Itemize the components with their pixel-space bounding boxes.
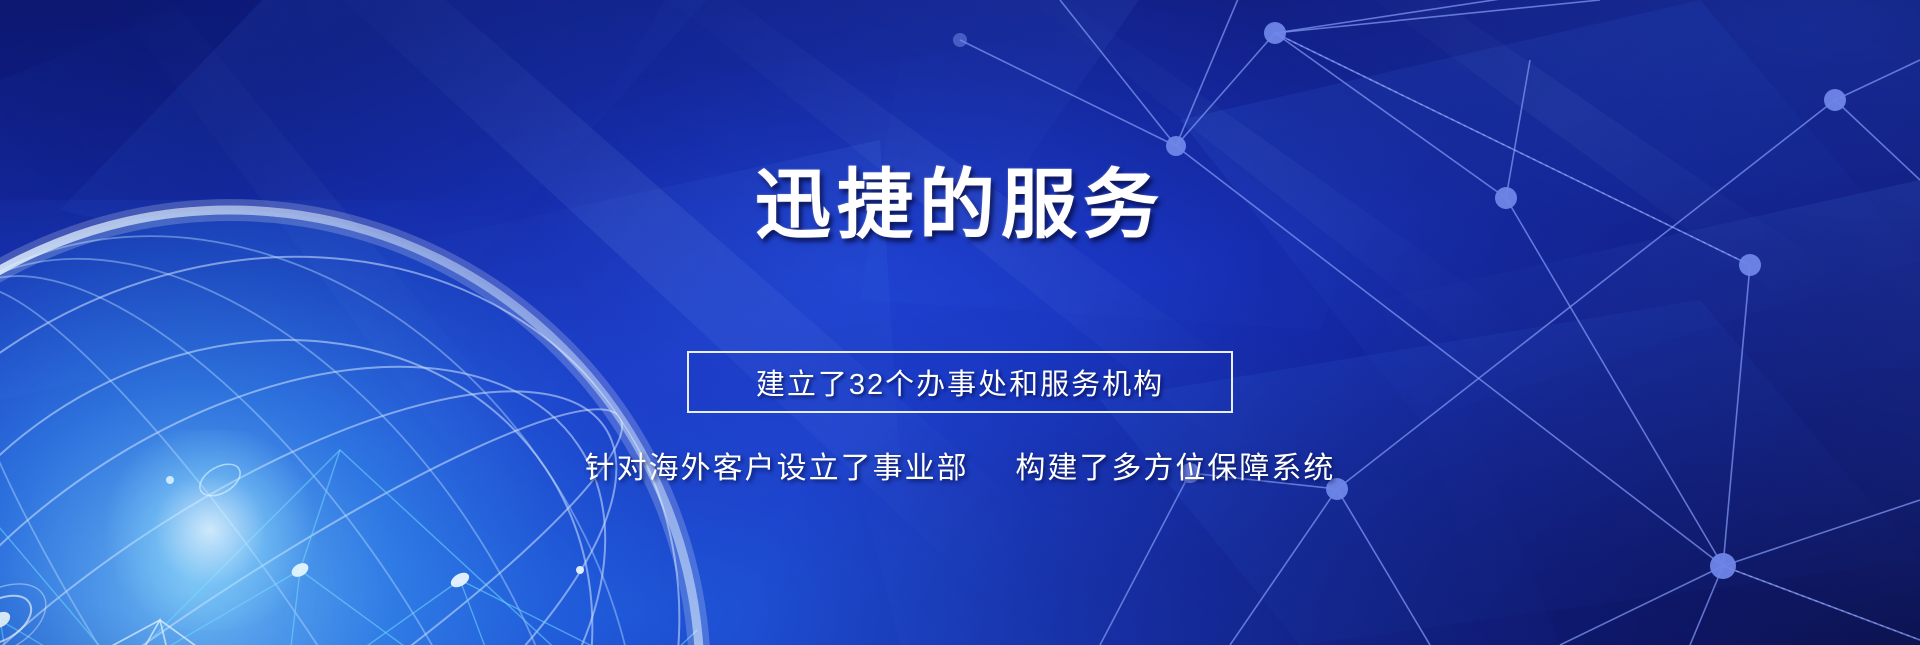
tagline-part-1: 针对海外客户设立了事业部	[585, 452, 969, 485]
page-title: 迅捷的服务	[755, 168, 1165, 244]
office-count-box: 建立了32个办事处和服务机构	[687, 351, 1233, 413]
tagline-part-2: 构建了多方位保障系统	[1015, 452, 1335, 485]
background-light-streaks	[0, 0, 1920, 645]
service-banner: 迅捷的服务 建立了32个办事处和服务机构 针对海外客户设立了事业部 构建了多方位…	[0, 0, 1920, 645]
tagline: 针对海外客户设立了事业部 构建了多方位保障系统	[585, 443, 1336, 487]
office-count-text: 建立了32个办事处和服务机构	[756, 361, 1164, 403]
